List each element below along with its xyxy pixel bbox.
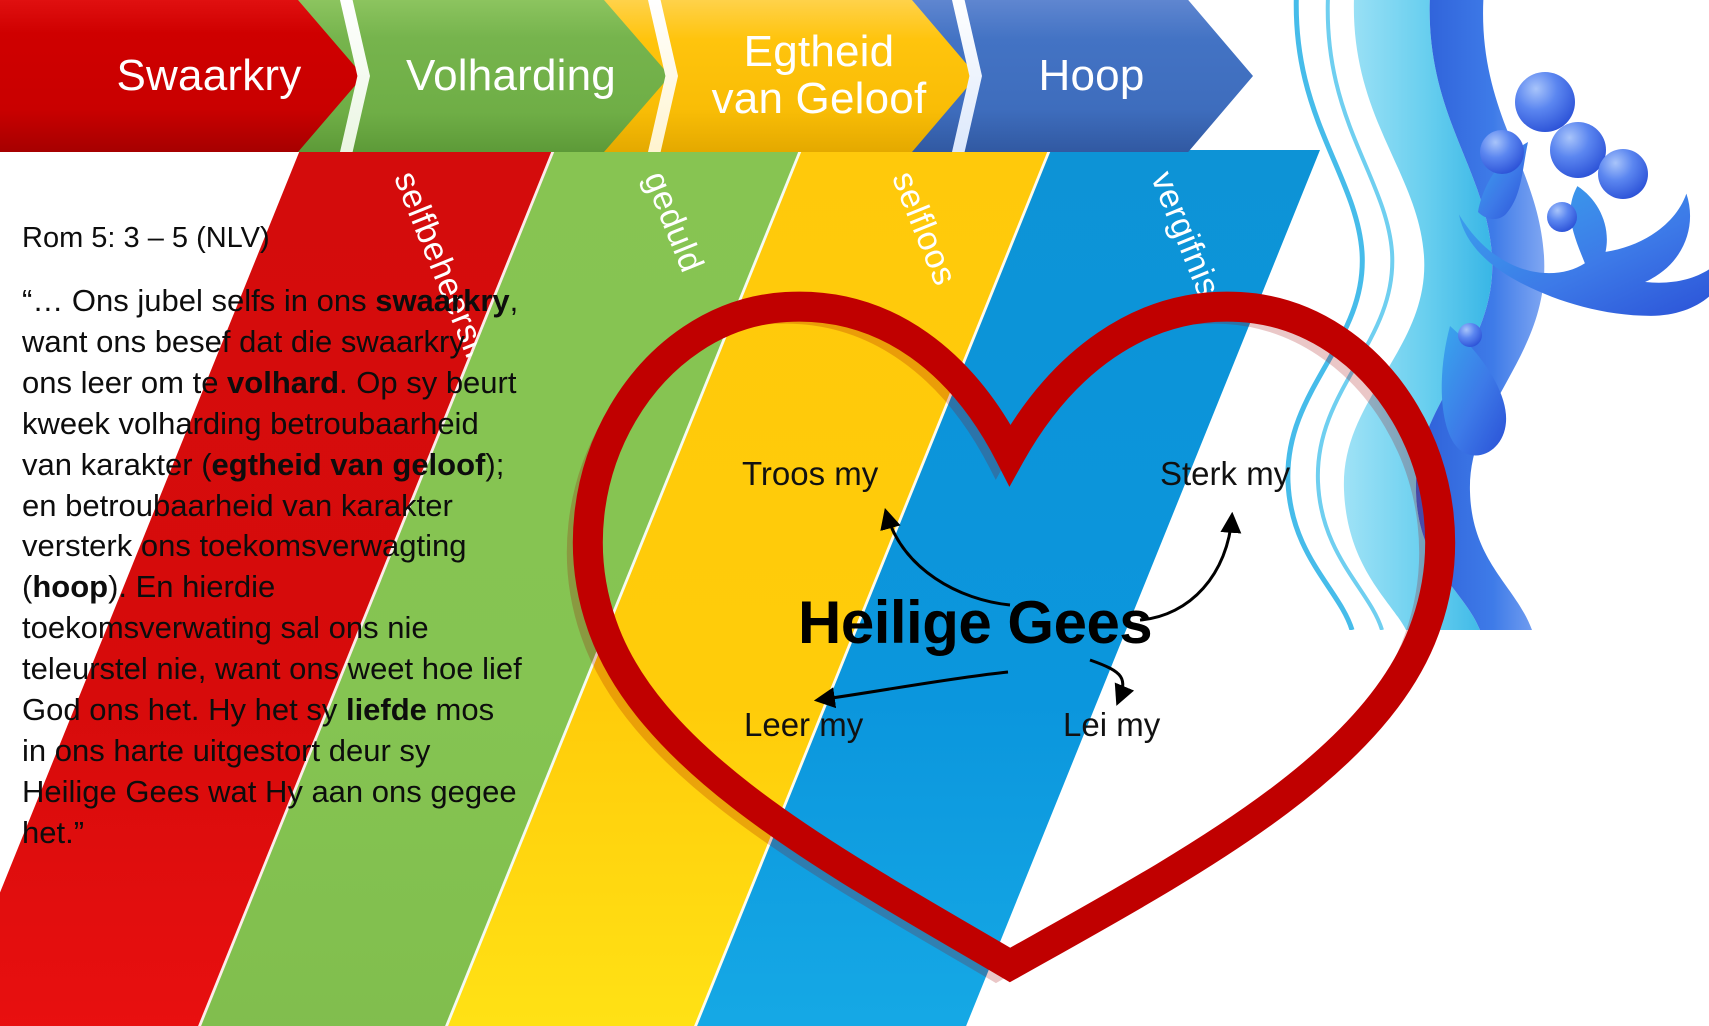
scripture-block: Rom 5: 3 – 5 (NLV) “… Ons jubel selfs in…	[22, 222, 522, 854]
arrow-to-sterk-my	[1140, 516, 1232, 620]
label-troos-my: Troos my	[742, 455, 878, 493]
label-heilige-gees: Heilige Gees	[798, 588, 1152, 657]
arrow-to-lei-my	[1090, 660, 1123, 702]
water-droplet	[1598, 149, 1648, 199]
scripture-emphasis: hoop	[32, 569, 108, 604]
water-splash-body	[1459, 186, 1709, 316]
label-leer-my: Leer my	[744, 706, 863, 744]
water-wave-light	[1344, 0, 1492, 630]
water-teardrop	[1442, 326, 1506, 455]
water-splash-tongue	[1478, 142, 1528, 219]
stripe-label-selfloos: selfloos	[884, 166, 965, 291]
stripe-label-geduld: geduld	[636, 166, 712, 278]
stripe-label-vergifnis: vergifnis	[1143, 166, 1228, 302]
water-droplet	[1480, 130, 1524, 174]
arrow-to-leer-my	[818, 672, 1008, 700]
chevron-label-volharding: Volharding	[388, 53, 616, 100]
water-splash-decoration	[1180, 0, 1709, 630]
chevron-label-egtheid-van-geloof: Egtheid van Geloof	[694, 29, 927, 122]
water-ribbon-thin-inner	[1318, 0, 1392, 630]
slide-canvas: selfbeheersing geduld selfloos vergifnis	[0, 0, 1709, 1026]
scripture-reference: Rom 5: 3 – 5 (NLV)	[22, 222, 522, 255]
label-sterk-my: Sterk my	[1160, 455, 1290, 493]
water-droplet	[1515, 72, 1575, 132]
scripture-run: “… Ons jubel selfs in ons	[22, 283, 375, 318]
scripture-emphasis: volhard	[227, 365, 339, 400]
water-droplet	[1550, 122, 1606, 178]
water-ribbon-thin-outer	[1288, 0, 1362, 630]
chevron-label-swaarkry: Swaarkry	[99, 53, 302, 100]
process-chevron-banner: Swaarkry Volharding Egtheid van Geloof H…	[0, 0, 1253, 152]
scripture-emphasis: swaarkry	[375, 283, 509, 318]
scripture-emphasis: egtheid van geloof	[212, 447, 486, 482]
water-droplet	[1547, 202, 1577, 232]
scripture-body: “… Ons jubel selfs in ons swaarkry, want…	[22, 281, 522, 854]
water-droplet	[1458, 323, 1482, 347]
chevron-label-hoop: Hoop	[1021, 53, 1145, 100]
scripture-emphasis: liefde	[346, 692, 427, 727]
water-wave-deep	[1416, 0, 1544, 630]
label-lei-my: Lei my	[1063, 706, 1160, 744]
